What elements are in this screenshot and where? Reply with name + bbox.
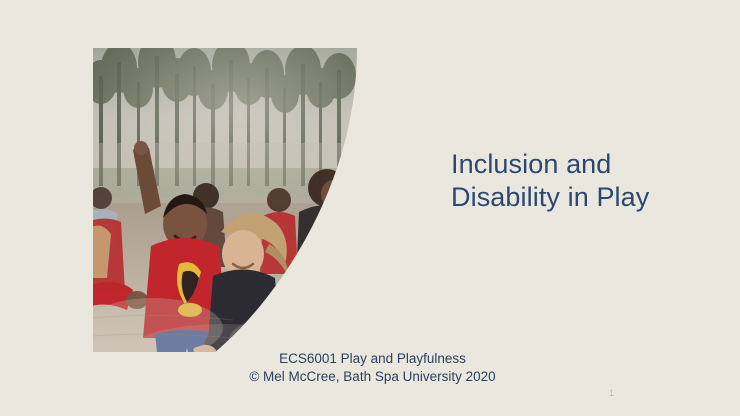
photo-illustration [93,48,357,352]
slide-caption: ECS6001 Play and Playfulness © Mel McCre… [200,350,545,386]
slide-photo [93,48,357,352]
caption-course: ECS6001 Play and Playfulness [200,350,545,368]
slide-canvas: Inclusion and Disability in Play ECS6001… [0,0,740,416]
title-line-1: Inclusion and [451,148,721,181]
title-line-2: Disability in Play [451,181,721,214]
caption-copyright: © Mel McCree, Bath Spa University 2020 [200,368,545,386]
slide-title: Inclusion and Disability in Play [451,148,721,214]
page-number: 1 [609,388,614,398]
